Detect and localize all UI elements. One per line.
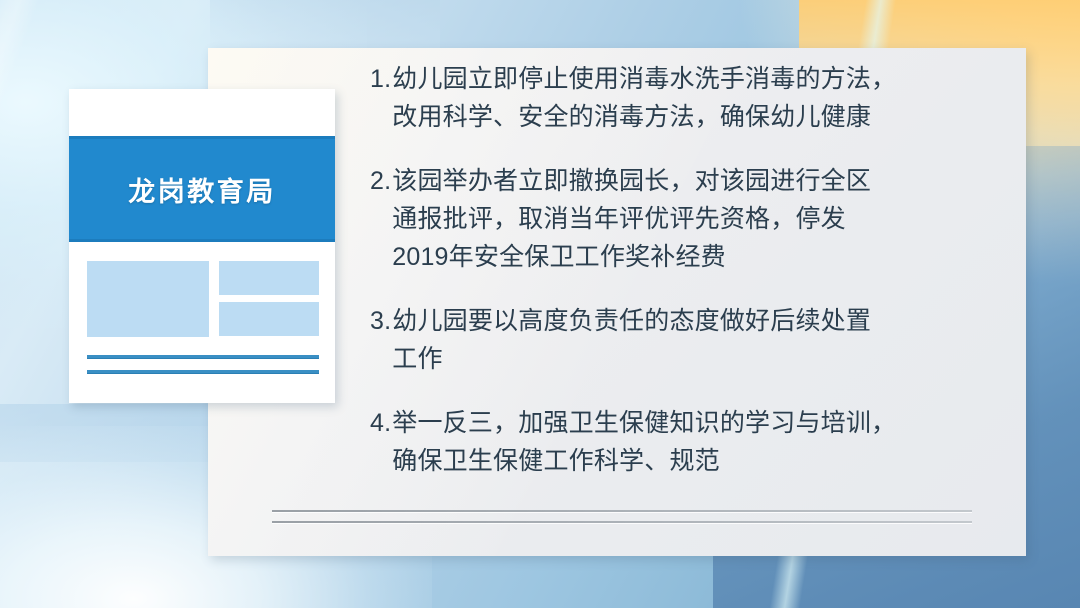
list-item-text: 举一反三，加强卫生保健知识的学习与培训， 确保卫生保健工作科学、规范	[392, 404, 990, 480]
logo-block-large	[87, 261, 209, 337]
logo-line-bottom	[87, 370, 319, 374]
logo-block-column	[219, 261, 319, 337]
logo-divider-lines	[87, 355, 319, 374]
organization-logo-card: 龙岗教育局	[69, 89, 335, 403]
logo-band: 龙岗教育局	[69, 136, 335, 242]
logo-block-small-bottom	[219, 302, 319, 336]
list-item-text: 幼儿园要以高度负责任的态度做好后续处置 工作	[392, 302, 990, 378]
footer-rule-bottom	[272, 521, 972, 523]
logo-line-top	[87, 355, 319, 359]
list-item: 3. 幼儿园要以高度负责任的态度做好后续处置 工作	[370, 302, 990, 378]
list-item-number: 4.	[370, 404, 392, 442]
list-item-number: 1.	[370, 60, 392, 98]
slide-canvas: 1. 幼儿园立即停止使用消毒水洗手消毒的方法， 改用科学、安全的消毒方法，确保幼…	[0, 0, 1080, 608]
list-item: 1. 幼儿园立即停止使用消毒水洗手消毒的方法， 改用科学、安全的消毒方法，确保幼…	[370, 60, 990, 136]
list-item-number: 3.	[370, 302, 392, 340]
logo-block-small-top	[219, 261, 319, 295]
footer-rule-top	[272, 510, 972, 512]
list-item: 4. 举一反三，加强卫生保健知识的学习与培训， 确保卫生保健工作科学、规范	[370, 404, 990, 480]
panel-footer-rules	[272, 510, 972, 523]
list-item: 2. 该园举办者立即撤换园长，对该园进行全区 通报批评，取消当年评优评先资格，停…	[370, 162, 990, 276]
list-item-text: 该园举办者立即撤换园长，对该园进行全区 通报批评，取消当年评优评先资格，停发 2…	[392, 162, 990, 276]
organization-name: 龙岗教育局	[128, 170, 276, 209]
logo-placeholder-blocks	[87, 261, 319, 337]
measures-list: 1. 幼儿园立即停止使用消毒水洗手消毒的方法， 改用科学、安全的消毒方法，确保幼…	[370, 60, 990, 506]
list-item-text: 幼儿园立即停止使用消毒水洗手消毒的方法， 改用科学、安全的消毒方法，确保幼儿健康	[392, 60, 990, 136]
list-item-number: 2.	[370, 162, 392, 200]
